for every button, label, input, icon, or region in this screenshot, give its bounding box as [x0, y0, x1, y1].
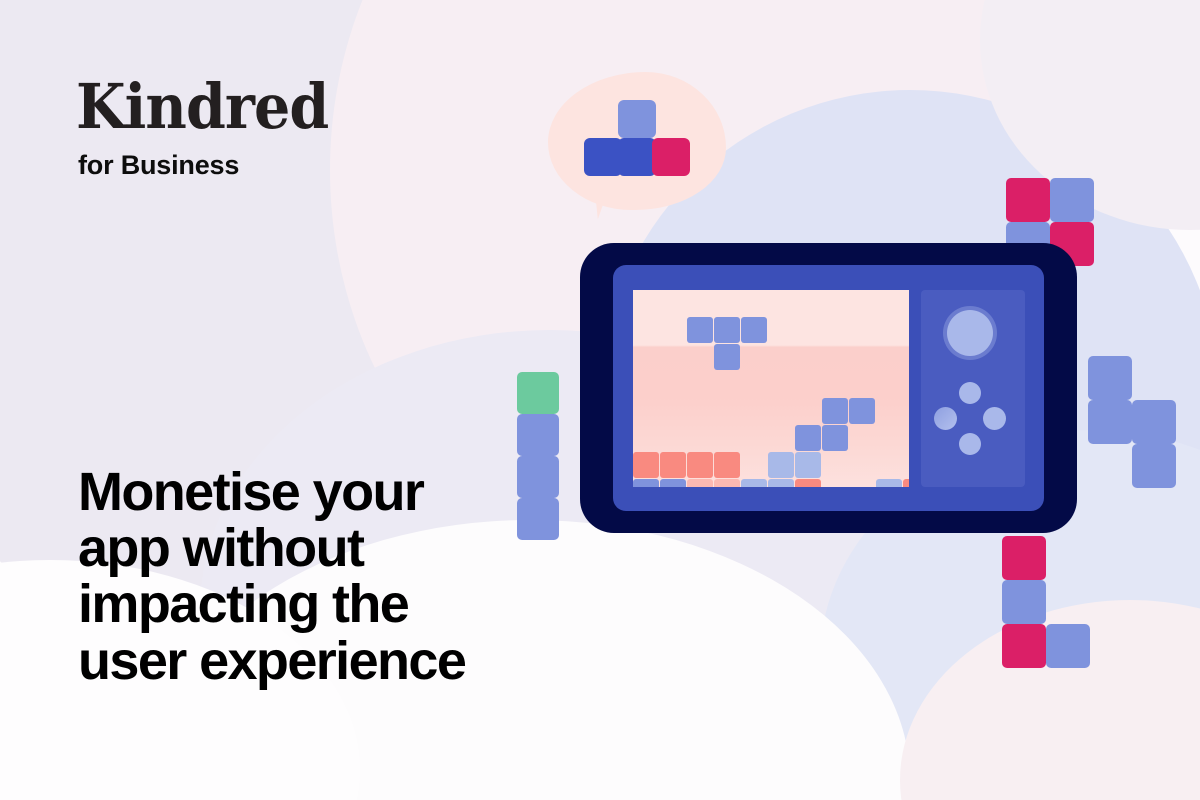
game-screen	[633, 290, 909, 487]
bubble-block-2	[618, 138, 656, 176]
speech-bubble-tetromino	[584, 100, 692, 176]
stack-cell-13	[876, 479, 902, 487]
top-right-square-block-1	[1050, 178, 1094, 222]
stack-cell-6	[633, 479, 659, 487]
t-piece-cell-3	[714, 344, 740, 370]
s-piece-cell-1	[849, 398, 875, 424]
t-piece-cell-0	[687, 317, 713, 343]
stack-cell-7	[660, 479, 686, 487]
headline-line-4: user experience	[78, 633, 548, 689]
bottom-right-piece-block-3	[1046, 624, 1090, 668]
bubble-block-0	[618, 100, 656, 138]
stack-cell-2	[687, 452, 713, 478]
headline-line-2: app without	[78, 520, 548, 576]
bottom-right-piece-block-2	[1002, 624, 1046, 668]
left-i-piece-block-1	[517, 414, 559, 456]
control-panel	[921, 290, 1025, 487]
stack-cell-1	[660, 452, 686, 478]
console-body	[613, 265, 1044, 511]
right-s-piece-block-1	[1088, 400, 1132, 444]
stack-cell-0	[633, 452, 659, 478]
brand-tagline: for Business	[78, 152, 350, 179]
dpad-right-button[interactable]	[983, 407, 1006, 430]
headline: Monetise your app without impacting the …	[78, 464, 548, 689]
stack-cell-8	[687, 479, 713, 487]
bubble-block-3	[652, 138, 690, 176]
stack-cell-4	[768, 452, 794, 478]
stack-cell-10	[741, 479, 767, 487]
headline-line-3: impacting the	[78, 576, 548, 632]
t-piece-cell-2	[741, 317, 767, 343]
s-piece-cell-0	[822, 398, 848, 424]
s-piece-cell-3	[822, 425, 848, 451]
brand-logo: Kindred for Business	[76, 76, 350, 179]
handheld-console	[580, 243, 1077, 533]
stack-cell-12	[795, 479, 821, 487]
stack-cell-11	[768, 479, 794, 487]
action-button[interactable]	[947, 310, 993, 356]
bottom-right-piece-block-1	[1002, 580, 1046, 624]
right-s-piece-block-3	[1132, 444, 1176, 488]
t-piece-cell-1	[714, 317, 740, 343]
stack-cell-3	[714, 452, 740, 478]
right-s-piece-block-0	[1088, 356, 1132, 400]
dpad-down-button[interactable]	[959, 433, 981, 455]
bubble-block-1	[584, 138, 622, 176]
brand-name: Kindred	[76, 76, 328, 138]
right-s-piece-block-2	[1132, 400, 1176, 444]
dpad-left-button[interactable]	[934, 407, 957, 430]
stack-cell-9	[714, 479, 740, 487]
stack-cell-5	[795, 452, 821, 478]
top-right-square-block-0	[1006, 178, 1050, 222]
left-i-piece-block-0	[517, 372, 559, 414]
stack-cell-14	[903, 479, 909, 487]
marketing-banner: Kindred for Business Monetise your app w…	[0, 0, 1200, 800]
headline-line-1: Monetise your	[78, 464, 548, 520]
bottom-right-piece-block-0	[1002, 536, 1046, 580]
dpad-up-button[interactable]	[959, 382, 981, 404]
s-piece-cell-2	[795, 425, 821, 451]
speech-bubble-tail	[594, 183, 623, 220]
